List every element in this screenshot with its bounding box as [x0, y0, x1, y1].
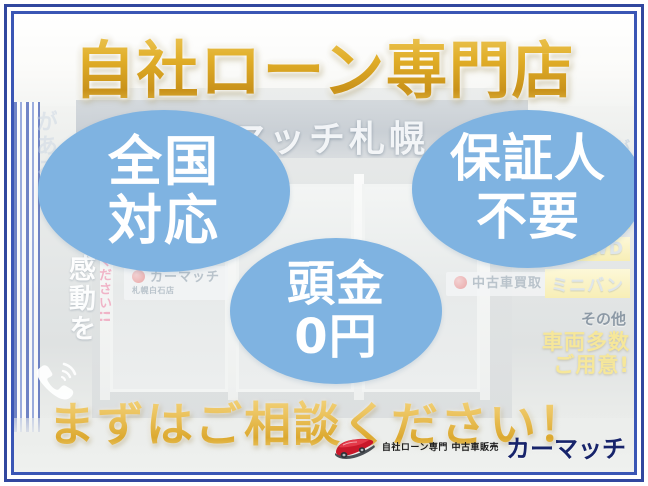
- feature-bubble-no-guarantor: 保証人 不要: [412, 110, 634, 268]
- shop-sign-left-line2: 札幌白石店: [132, 287, 220, 295]
- feature-bubble-zero-down-payment: 頭金 0円: [230, 238, 442, 384]
- logo-mark-icon: [132, 270, 145, 283]
- bubble-line-1: 保証人: [450, 134, 606, 186]
- company-logo: 自社ローン専門 中古車販売 カーマッチ: [331, 429, 626, 464]
- logo-tagline: 自社ローン専門 中古車販売: [382, 440, 499, 453]
- car-icon: [331, 434, 375, 460]
- logo-mark-icon: [454, 276, 467, 289]
- shop-sign-left-line1: カーマッチ: [132, 270, 220, 285]
- bubble-line-2: 不要: [476, 192, 580, 244]
- category-chip: ミニバン: [545, 269, 630, 298]
- bubble-line-1: 頭金: [287, 260, 385, 309]
- page-title: 自社ローン専門店: [14, 20, 634, 110]
- feature-bubble-nationwide: 全国 対応: [38, 110, 290, 272]
- advertisement-banner: マッチ札幌 がある 超える感動を わせください!! カーマッチ 札幌白石店 中古…: [0, 0, 648, 486]
- bubble-line-2: 0円: [294, 313, 377, 362]
- category-highlight-line1: 車両多数: [522, 331, 630, 354]
- bubble-line-2: 対応: [108, 193, 220, 248]
- bubble-line-1: 全国: [108, 134, 220, 189]
- category-highlight-line2: ご用意!: [522, 354, 630, 377]
- banner-stage: マッチ札幌 がある 超える感動を わせください!! カーマッチ 札幌白石店 中古…: [14, 14, 634, 472]
- logo-brand-name: カーマッチ: [506, 429, 626, 464]
- category-other-label: その他: [522, 308, 626, 329]
